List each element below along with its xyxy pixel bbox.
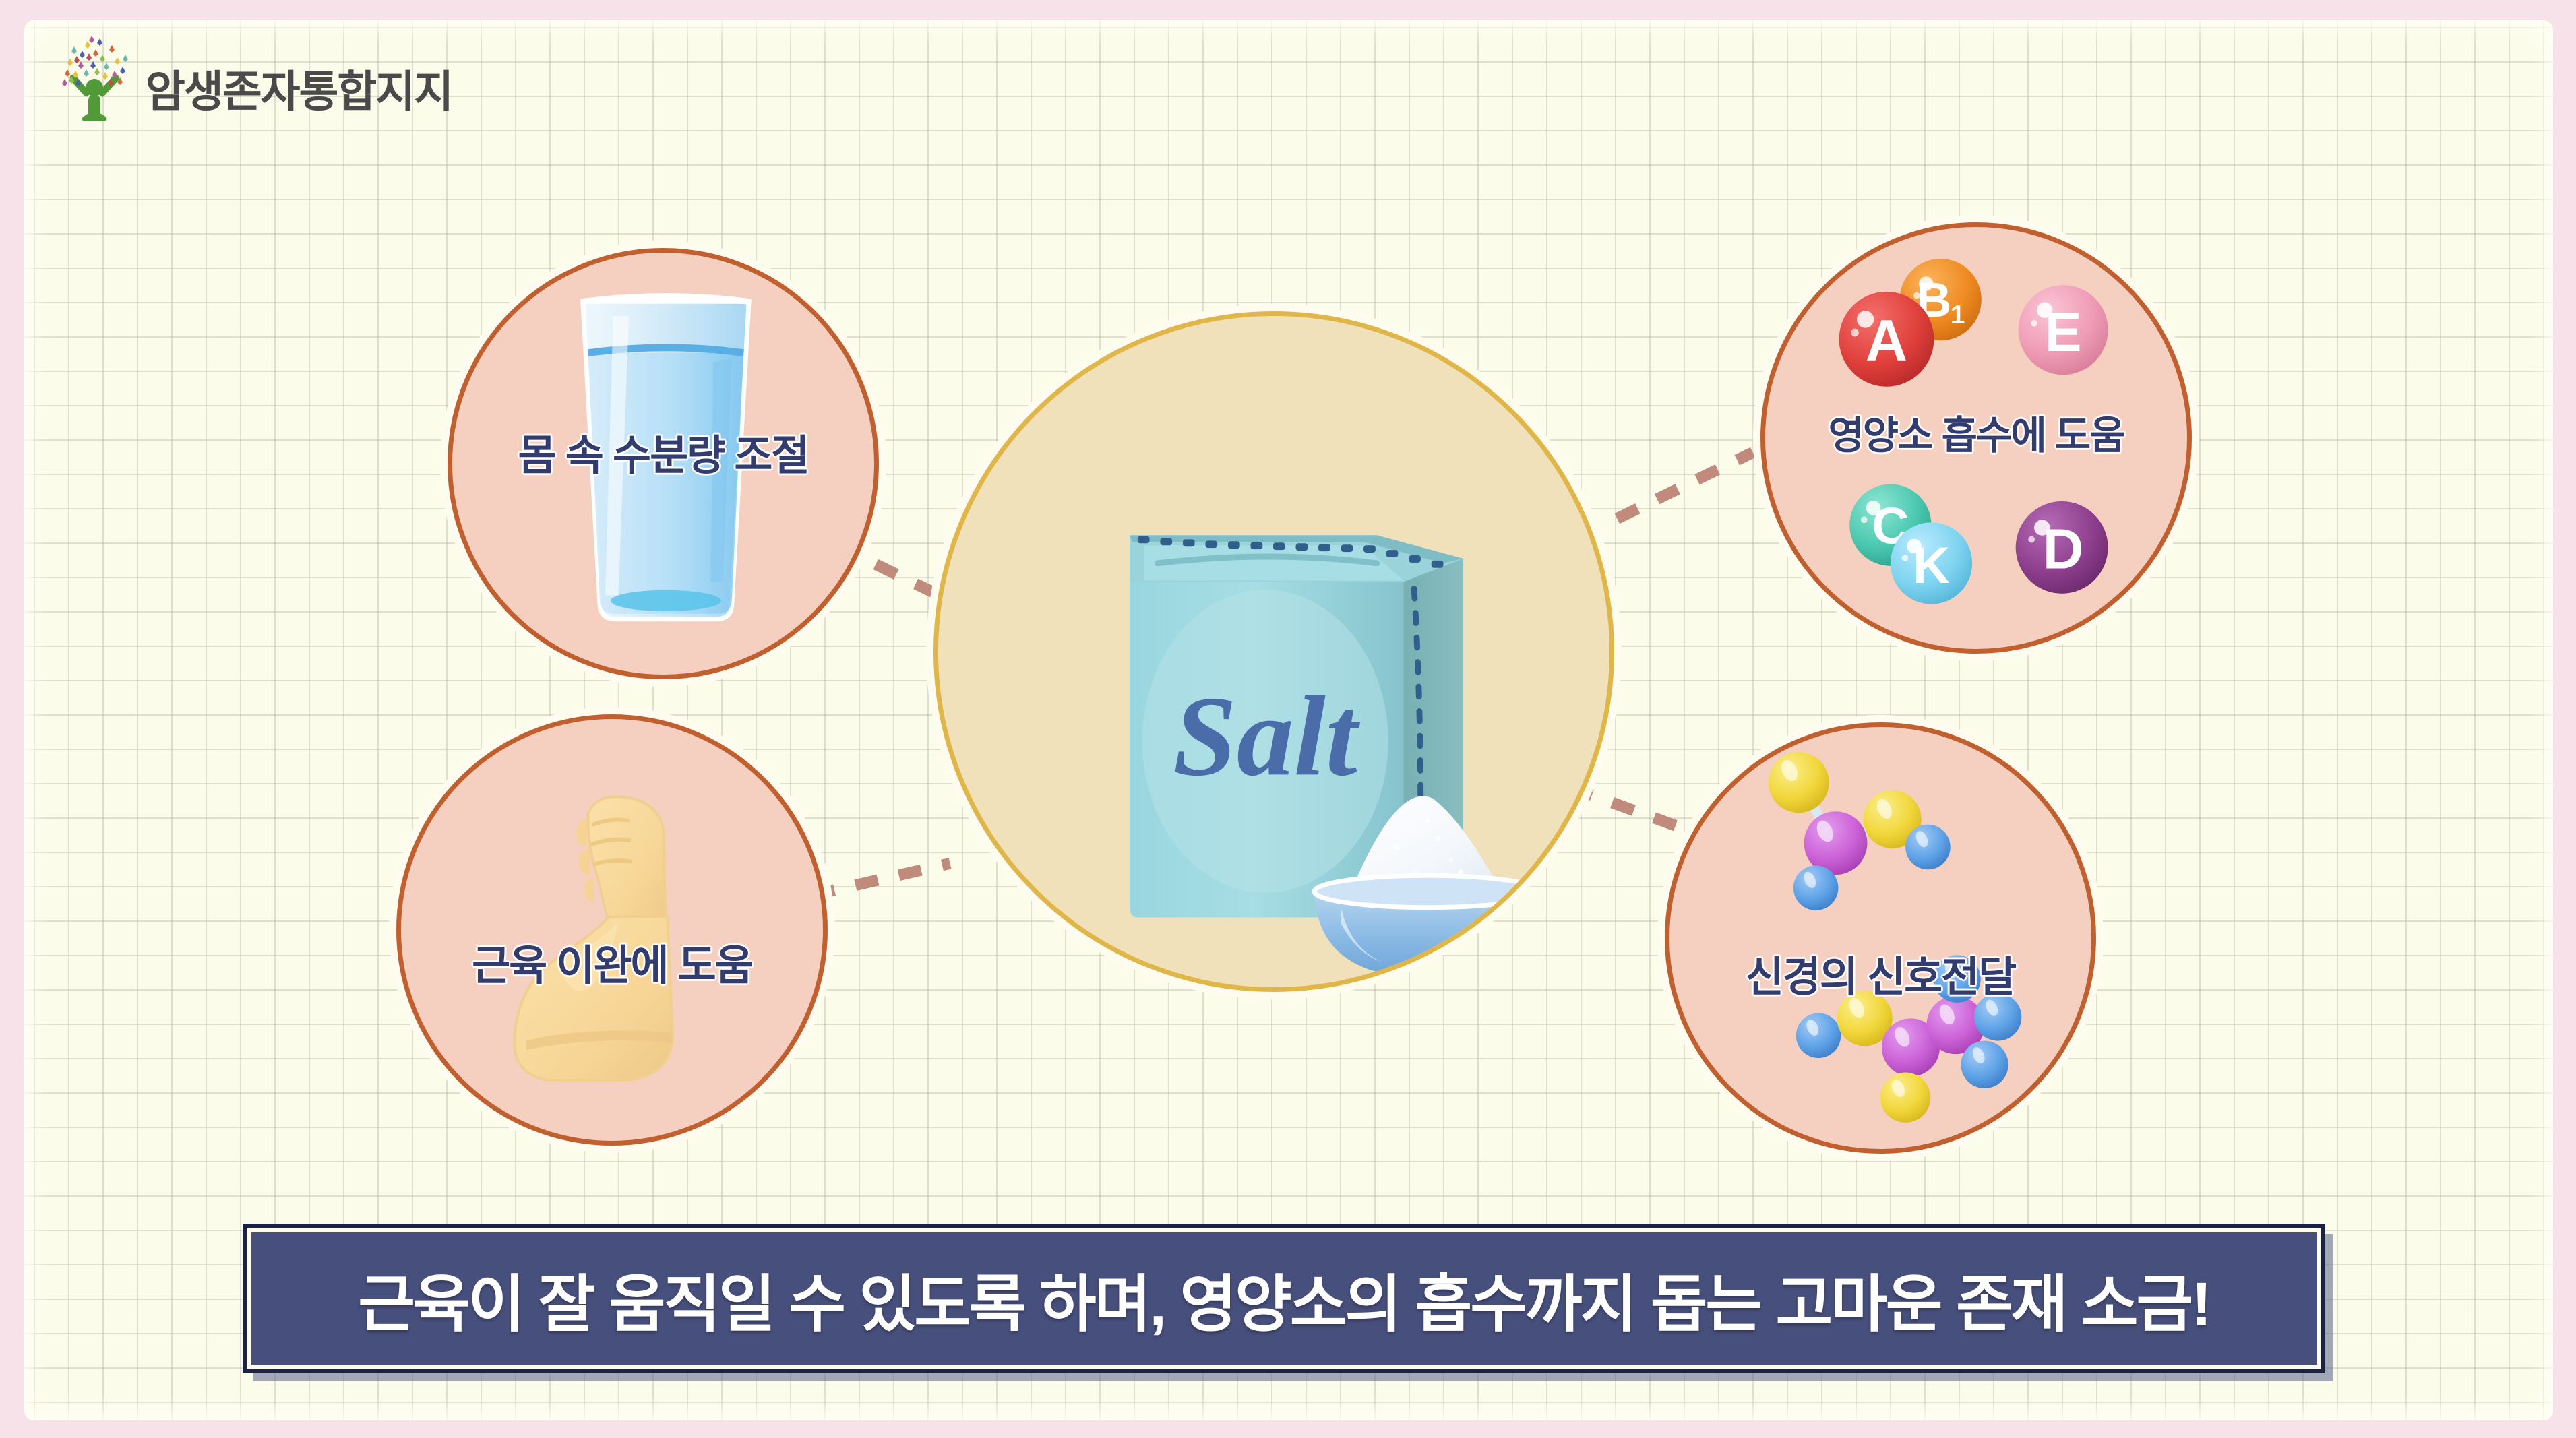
tree-person-ribbons-logo-icon [53,36,136,123]
benefit-node-nerve[interactable]: 신경의 신호전달 [1665,722,2096,1154]
benefit-node-nerve-label: 신경의 신호전달 [1669,943,2091,1003]
pill-letter-a: A [1866,309,1907,373]
benefit-node-muscle-label: 근육 이완에 도움 [401,931,823,992]
benefit-node-nutrient[interactable]: B 1 A E C K D [1760,222,2192,654]
molecule-icon [1669,727,2091,1149]
flexed-bicep-icon [401,719,823,1141]
pill-letter-b-sub: 1 [1951,301,1965,330]
salt-bag-label: Salt [1173,673,1360,799]
benefit-node-muscle[interactable]: 근육 이완에 도움 [396,714,828,1146]
benefit-node-water[interactable]: 몸 속 수분량 조절 [448,248,879,679]
summary-banner-text: 근육이 잘 움직일 수 있도록 하며, 영양소의 흡수까지 돕는 고마운 존재 … [358,1254,2210,1344]
pill-letter-k: K [1913,537,1950,594]
pill-letter-d: D [2043,518,2084,581]
salt-bag-and-bowl-icon: Salt [938,316,1609,987]
infographic-canvas: 암생존자통합지지 [0,0,2576,1438]
brand-name: 암생존자통합지지 [146,70,452,123]
summary-banner: 근육이 잘 움직일 수 있도록 하며, 영양소의 흡수까지 돕는 고마운 존재 … [243,1224,2325,1373]
center-salt-circle: Salt [933,311,1614,992]
benefit-node-nutrient-label: 영양소 흡수에 도움 [1765,404,2187,460]
benefit-node-water-label: 몸 속 수분량 조절 [452,421,874,482]
brand-logo: 암생존자통합지지 [53,28,484,123]
pill-letter-e: E [2045,302,2082,363]
